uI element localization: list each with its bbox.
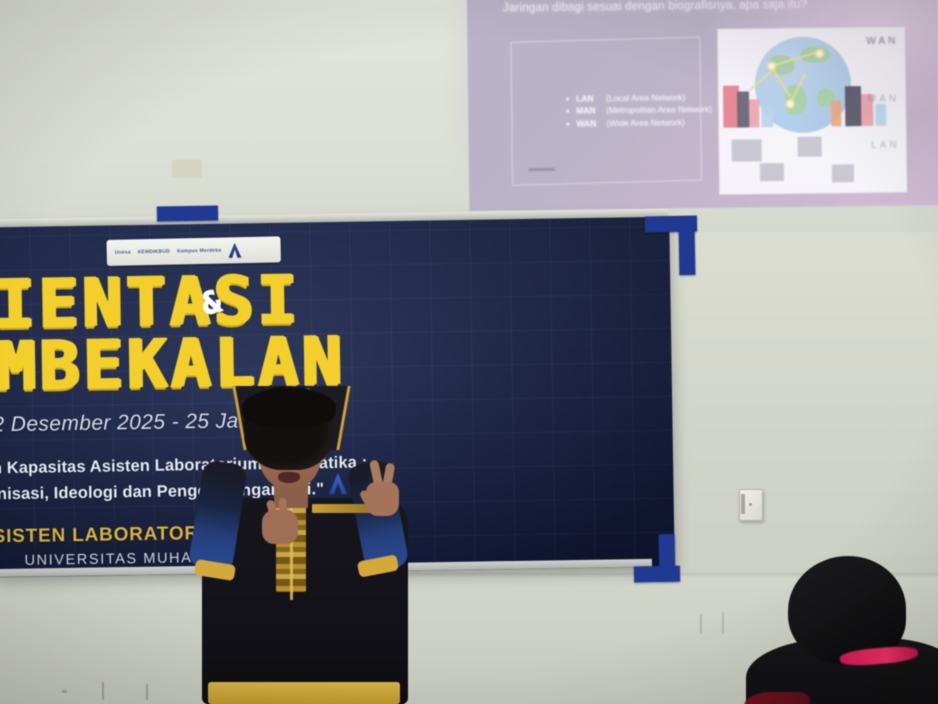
- logo-label: Unesa: [115, 249, 131, 255]
- building: [875, 104, 886, 126]
- network-node: [814, 49, 824, 59]
- presenter: [186, 386, 448, 704]
- logo-label: KEMDIKBUD: [138, 249, 170, 256]
- pic-label-man: MAN: [868, 94, 899, 105]
- presenter-mouth: [278, 472, 300, 483]
- slide-question-text: Jaringan dibagi sesuai dengan biografisn…: [503, 0, 913, 14]
- building: [761, 105, 773, 127]
- wall-scuff: [722, 612, 724, 634]
- tape-top-right-vertical: [679, 227, 696, 275]
- wall-scuff: [146, 684, 148, 700]
- audience-red-garment: [744, 692, 810, 704]
- building: [831, 100, 841, 126]
- bullet-expansion: (Wide Area Network): [606, 117, 685, 128]
- slide-pointer-mark: [529, 168, 555, 171]
- network-node: [767, 61, 777, 71]
- peak-logo-icon: [228, 243, 241, 258]
- audience-member: [758, 556, 938, 704]
- bullet-key: WAN: [576, 117, 606, 130]
- wall-scuff: [102, 682, 104, 700]
- light-switch[interactable]: [739, 489, 763, 521]
- logo-label: Kampus Merdeka: [177, 248, 221, 255]
- building: [749, 99, 759, 127]
- diagram-scribble: [832, 164, 854, 182]
- network-node: [785, 99, 795, 109]
- wall-scuff: [62, 690, 67, 693]
- palm: [262, 510, 298, 544]
- wall-tape-mark: [172, 160, 202, 178]
- projected-slide: Jaringan dibagi sesuai dengan biografisn…: [467, 0, 938, 211]
- bullet-expansion: (Metropolitan Area Network): [606, 104, 712, 115]
- bullet-key: MAN: [576, 104, 606, 117]
- diagram-scribble: [760, 163, 784, 181]
- diagram-scribble: [798, 137, 822, 157]
- presenter-gesturing-hand: [260, 498, 304, 550]
- bullet-expansion: (Local Area Network): [606, 92, 685, 103]
- tape-bottom-right-horizontal: [634, 566, 680, 583]
- building: [737, 91, 749, 127]
- presenter-hair-fringe: [242, 388, 336, 428]
- tape-top-left: [157, 205, 218, 221]
- pic-label-wan: WAN: [866, 36, 898, 47]
- presenter-raised-hand: [362, 460, 402, 516]
- wall-scuff: [700, 614, 702, 634]
- presentation-photo: Jaringan dibagi sesuai dengan biografisn…: [0, 0, 938, 704]
- diagram-scribble: [732, 139, 762, 161]
- jacket-logo-icon: [329, 473, 347, 494]
- presenter-hem: [208, 682, 400, 704]
- slide-network-diagram: WAN MAN LAN: [717, 27, 907, 195]
- bullet-key: LAN: [576, 92, 606, 105]
- banner-title: RIENTASI EMBEKALAN: [0, 266, 572, 398]
- pic-label-lan: LAN: [871, 140, 900, 151]
- building: [845, 86, 861, 126]
